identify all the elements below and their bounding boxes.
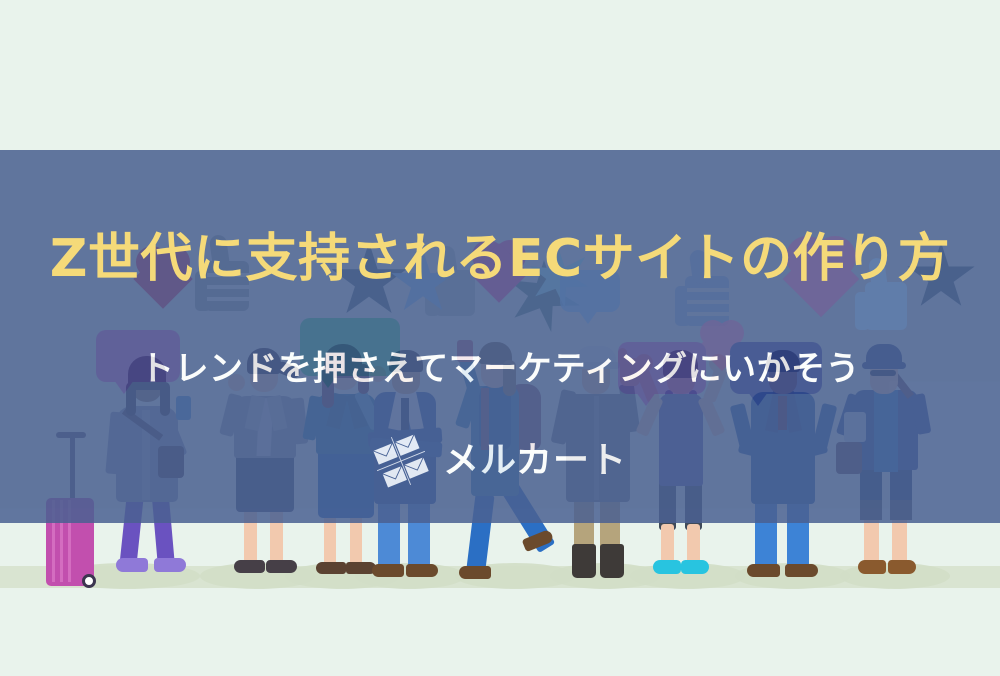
- brand-logo: メルカート: [0, 433, 1000, 489]
- hero-banner: Z世代に支持されるECサイトの作り方 トレンドを押さえてマーケティングにいかそう: [0, 0, 1000, 676]
- brand-logo-text: メルカート: [443, 443, 627, 479]
- mercart-diamond-envelope-mark: [373, 433, 429, 489]
- hero-subtitle: トレンドを押さえてマーケティングにいかそう: [0, 341, 1000, 390]
- hero-blue-band: Z世代に支持されるECサイトの作り方 トレンドを押さえてマーケティングにいかそう: [0, 150, 1000, 523]
- hero-title: Z世代に支持されるECサイトの作り方: [0, 216, 1000, 291]
